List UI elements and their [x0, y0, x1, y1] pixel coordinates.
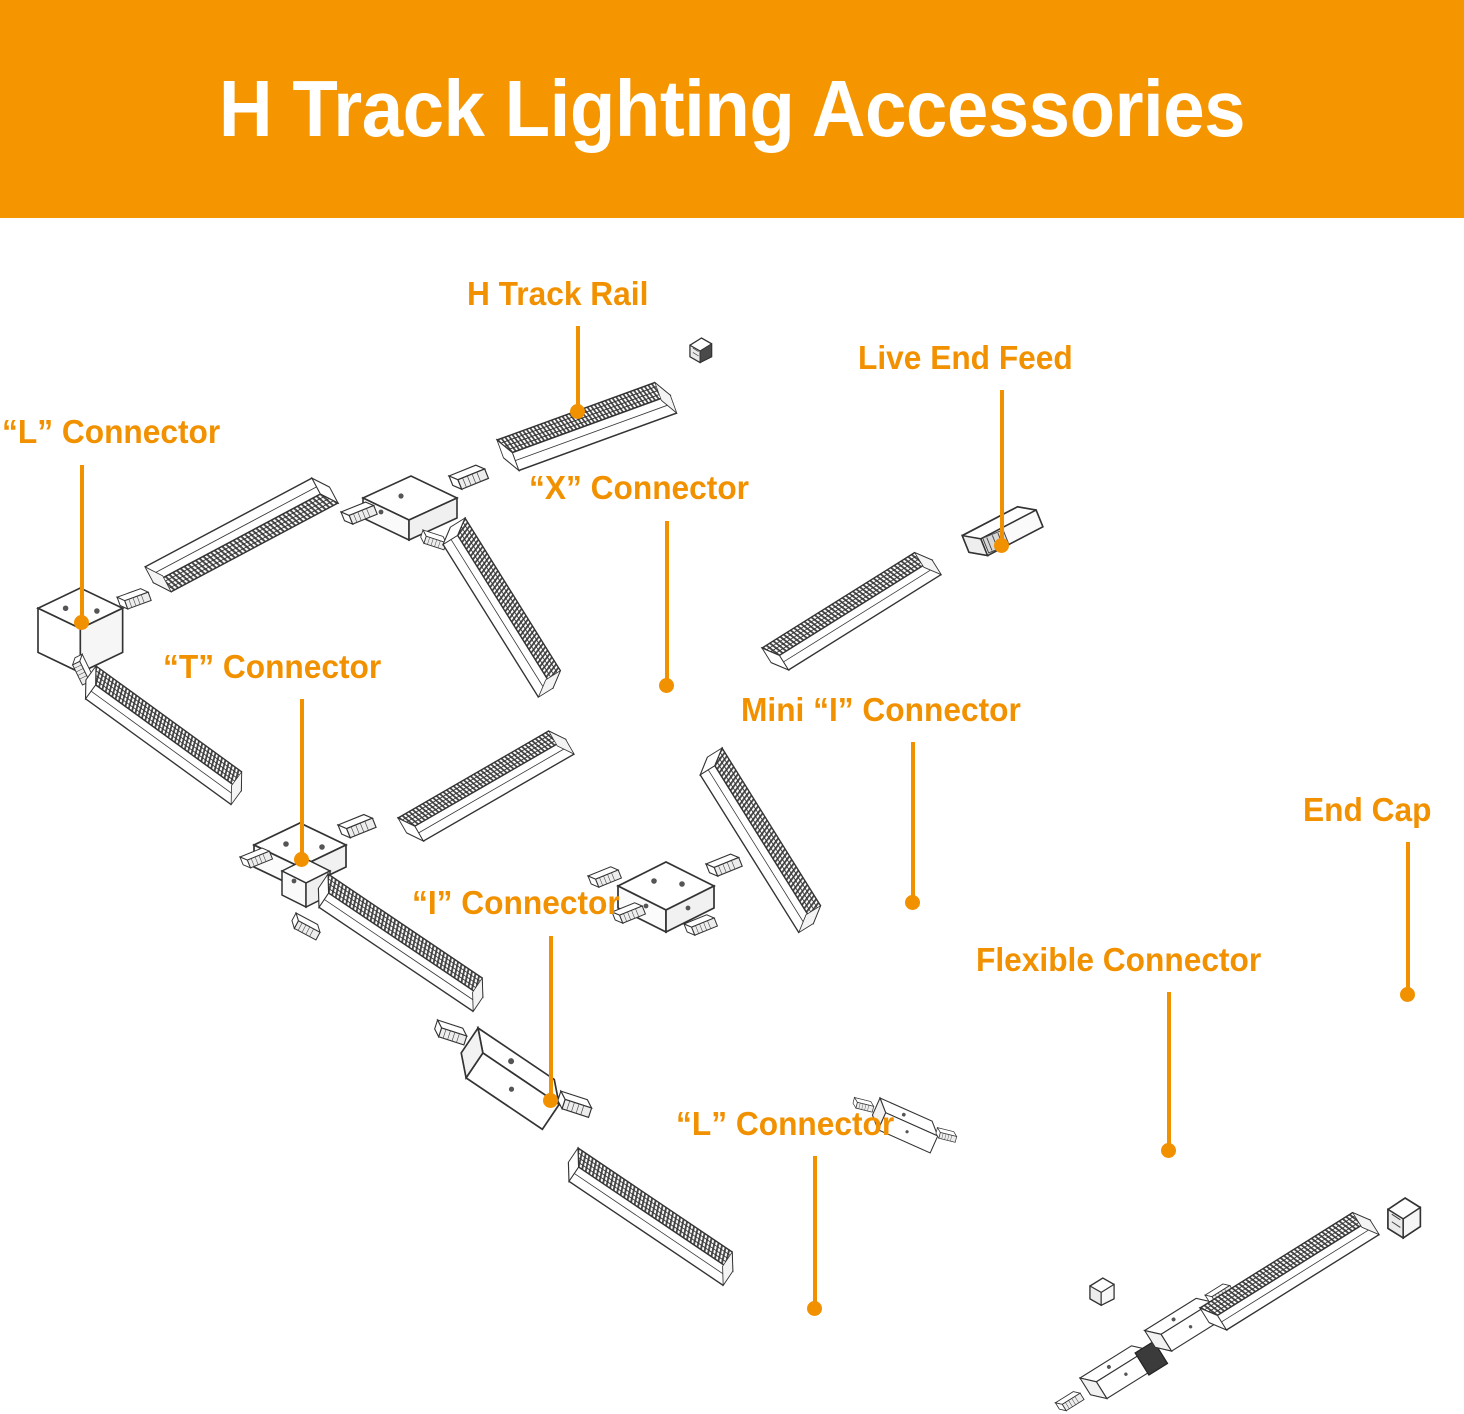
- leader-dot-x-connector: [659, 678, 674, 693]
- leader-dot-flexible-connector: [1161, 1143, 1176, 1158]
- header-banner: H Track Lighting Accessories: [0, 0, 1464, 218]
- leader-dot-end-cap: [1400, 987, 1415, 1002]
- diagram-page: H Track Lighting Accessories: [0, 0, 1464, 1414]
- leader-dot-h-track-rail: [570, 404, 585, 419]
- part-track-rail-center-right: [762, 547, 941, 676]
- callout-label-l-connector-bottom: “L” Connector: [676, 1107, 894, 1140]
- leader-dot-l-connector-bottom: [807, 1301, 822, 1316]
- callout-label-t-connector: “T” Connector: [163, 650, 381, 683]
- leader-line-i-connector: [549, 936, 553, 1100]
- part-track-rail-center-up: [437, 518, 566, 697]
- exploded-diagram: [0, 218, 1464, 1414]
- leader-dot-mini-i-connector: [905, 895, 920, 910]
- leader-dot-t-connector: [294, 852, 309, 867]
- part-end-cap-loose-mid: [1090, 1278, 1114, 1305]
- part-track-rail-upper-left: [145, 473, 338, 597]
- callout-label-live-end-feed: Live End Feed: [858, 341, 1073, 374]
- leader-line-end-cap: [1406, 842, 1410, 994]
- part-track-rail-mid-left: [398, 726, 574, 847]
- callout-label-l-connector-top-left: “L” Connector: [2, 415, 220, 448]
- leader-dot-l-connector-top-left: [74, 615, 89, 630]
- callout-label-x-connector: “X” Connector: [529, 471, 749, 504]
- part-track-rail-right-lower: [1200, 1207, 1379, 1336]
- leader-line-flexible-connector: [1167, 992, 1171, 1150]
- callout-label-end-cap: End Cap: [1303, 793, 1431, 826]
- part-track-rail-top: [497, 379, 677, 474]
- leader-dot-i-connector: [543, 1093, 558, 1108]
- track-assembly-drawing: [0, 218, 1464, 1414]
- callout-label-mini-i-connector: Mini “I” Connector: [741, 693, 1021, 726]
- leader-line-t-connector: [300, 699, 304, 859]
- leader-line-l-connector-bottom: [813, 1156, 817, 1308]
- leader-line-h-track-rail: [576, 326, 580, 411]
- callout-label-i-connector: “I” Connector: [412, 886, 620, 919]
- part-track-rail-bottom-left: [560, 1148, 742, 1285]
- leader-dot-live-end-feed: [994, 538, 1009, 553]
- leader-line-mini-i-connector: [911, 742, 915, 902]
- leader-line-live-end-feed: [1000, 390, 1004, 545]
- part-end-cap: [1388, 1198, 1420, 1238]
- part-i-connector: [420, 1004, 598, 1147]
- leader-line-l-connector-top-left: [80, 465, 84, 622]
- leader-line-x-connector: [665, 521, 669, 685]
- part-track-rail-left-down: [77, 666, 251, 805]
- callout-label-h-track-rail: H Track Rail: [467, 277, 648, 310]
- callout-label-flexible-connector: Flexible Connector: [976, 943, 1261, 976]
- page-title: H Track Lighting Accessories: [51, 0, 1413, 218]
- part-end-cap-loose-top: [690, 338, 712, 362]
